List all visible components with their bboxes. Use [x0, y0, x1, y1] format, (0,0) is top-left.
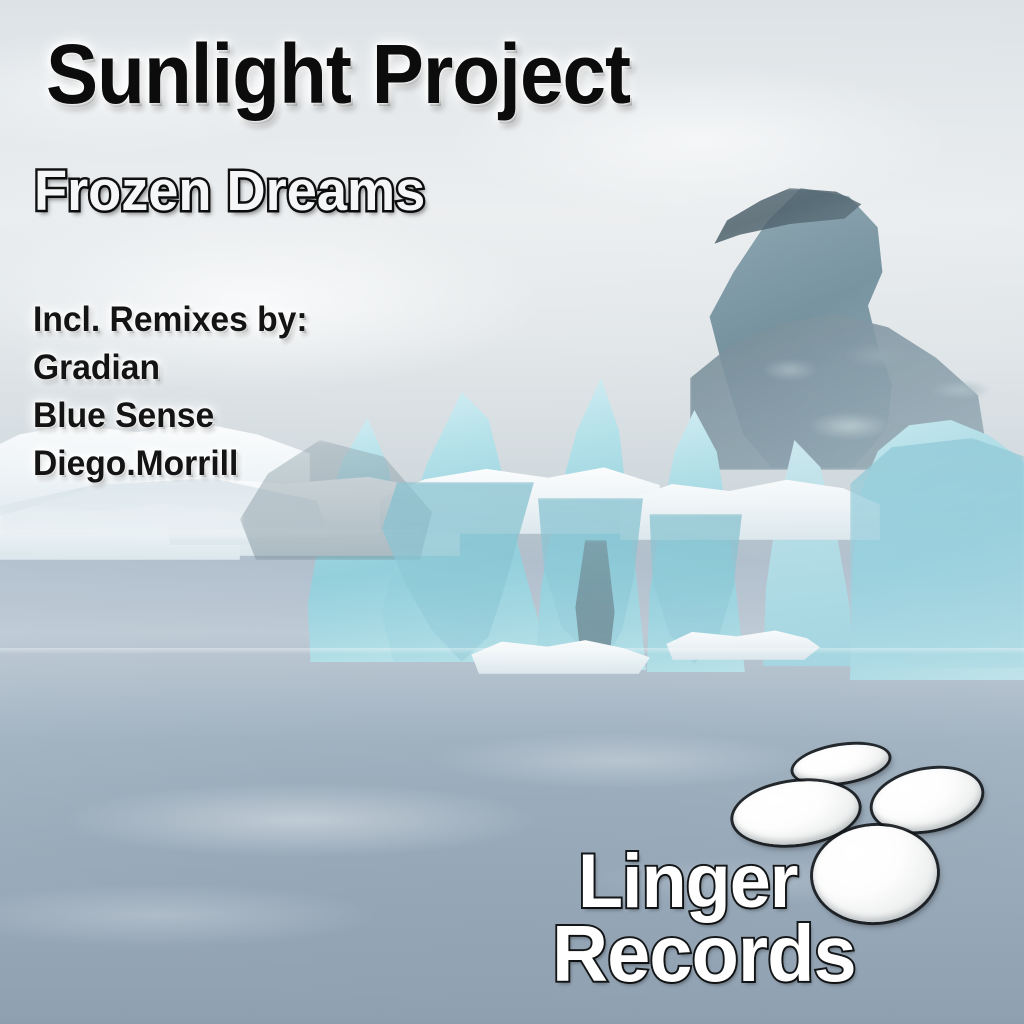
remixer-diego-morrill: Diego.Morrill — [33, 440, 308, 488]
remixer-blue-sense: Blue Sense — [33, 392, 308, 440]
remixer-gradian: Gradian — [33, 344, 308, 392]
release-title: Frozen Dreams — [34, 158, 425, 224]
album-cover: Sunlight Project Frozen Dreams Incl. Rem… — [0, 0, 1024, 1024]
remix-credits: Incl. Remixes by: Gradian Blue Sense Die… — [33, 296, 308, 488]
artist-name: Sunlight Project — [46, 26, 630, 123]
remix-heading: Incl. Remixes by: — [33, 296, 308, 344]
cloud-reflection — [0, 700, 1024, 1024]
waterline-main — [0, 648, 1024, 654]
reflection-ice-right — [850, 438, 1024, 668]
